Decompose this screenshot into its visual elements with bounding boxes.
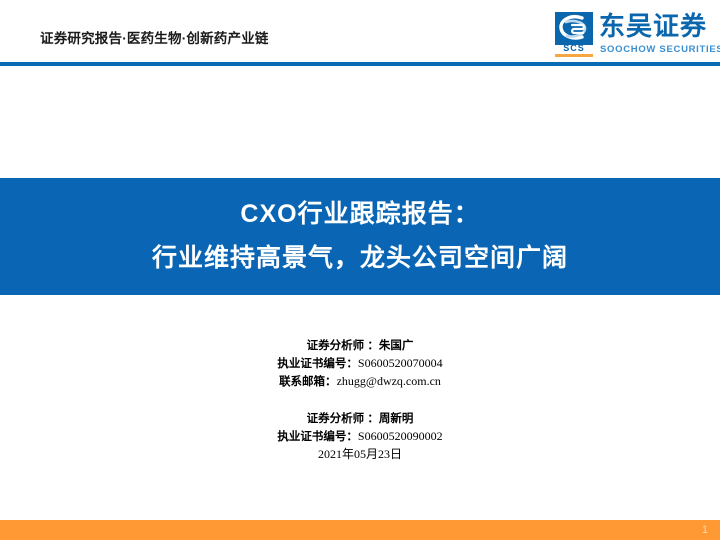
analyst-info-block: 证券分析师 ：朱国广 执业证书编号：S0600520070004 联系邮箱：zh…	[0, 338, 720, 463]
analyst-license-line: 执业证书编号：S0600520090002	[0, 428, 720, 446]
report-cover-slide: 证券研究报告·医药生物·创新药产业链 SCS 东吴证券 SOOCHOW SECU…	[0, 0, 720, 540]
analyst-entry: 证券分析师 ：朱国广 执业证书编号：S0600520070004 联系邮箱：zh…	[0, 338, 720, 391]
report-date: 2021年05月23日	[0, 446, 720, 463]
analyst-name-line: 证券分析师 ：朱国广	[0, 338, 720, 355]
logo-abbr-text: SCS	[555, 44, 593, 53]
footer-accent-bar	[0, 520, 720, 540]
analyst-license-label: 执业证书编号：	[277, 358, 358, 370]
analyst-license-value: S0600520090002	[358, 429, 443, 443]
analyst-name-line: 证券分析师 ：周新明	[0, 411, 720, 428]
analyst-email-label: 联系邮箱：	[279, 376, 337, 388]
analyst-license-label: 执业证书编号：	[277, 431, 358, 443]
report-title-line-2: 行业维持高景气，龙头公司空间广阔	[152, 246, 568, 271]
analyst-email-value: zhugg@dwzq.com.cn	[337, 374, 441, 388]
logo-abbr-block: SCS	[555, 44, 593, 57]
report-title-line-1: CXO行业跟踪报告：	[240, 202, 479, 227]
analyst-entry: 证券分析师 ：周新明 执业证书编号：S0600520090002 2021年05…	[0, 411, 720, 463]
brand-logo: SCS 东吴证券 SOOCHOW SECURITIES	[552, 12, 710, 58]
analyst-email-line: 联系邮箱：zhugg@dwzq.com.cn	[0, 373, 720, 391]
logo-name-en: SOOCHOW SECURITIES	[600, 44, 720, 55]
title-banner: CXO行业跟踪报告： 行业维持高景气，龙头公司空间广阔	[0, 178, 720, 295]
slide-header: 证券研究报告·医药生物·创新药产业链 SCS 东吴证券 SOOCHOW SECU…	[0, 0, 720, 62]
soochow-securities-logo-mark-icon	[555, 12, 593, 45]
analyst-license-line: 执业证书编号：S0600520070004	[0, 355, 720, 373]
logo-orange-underline	[555, 54, 593, 57]
header-divider	[0, 62, 720, 66]
page-number: 1	[702, 523, 708, 537]
analyst-license-value: S0600520070004	[358, 356, 443, 370]
logo-name-cn: 东吴证券	[599, 11, 707, 41]
breadcrumb: 证券研究报告·医药生物·创新药产业链	[40, 32, 269, 46]
